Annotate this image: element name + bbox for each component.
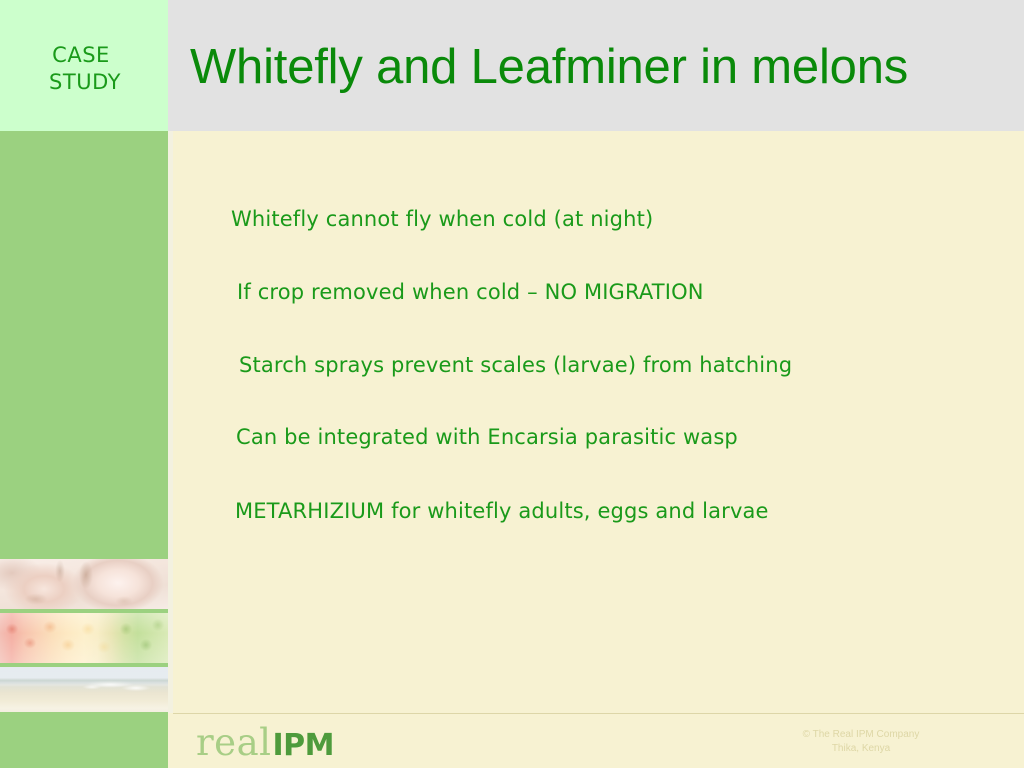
sidebar-photo-strip (0, 557, 168, 712)
bullet-item: If crop removed when cold – NO MIGRATION (237, 278, 704, 306)
bullet-item: Whitefly cannot fly when cold (at night) (231, 205, 653, 233)
farm-landscape-photo (0, 667, 168, 712)
case-study-badge-line2: STUDY (49, 69, 121, 96)
footer-divider-rule (173, 713, 1024, 714)
logo-word-ipm: IPM (272, 728, 334, 763)
copyright-line1: © The Real IPM Company (803, 729, 920, 740)
bullet-item: METARHIZIUM for whitefly adults, eggs an… (235, 497, 769, 525)
roses-photo (0, 559, 168, 609)
bullet-item: Can be integrated with Encarsia parasiti… (236, 423, 738, 451)
presentation-slide: CASE STUDY Whitefly and Leafminer in mel… (0, 0, 1024, 768)
footer-sidebar-green (0, 712, 168, 768)
bullet-item: Starch sprays prevent scales (larvae) fr… (239, 351, 792, 379)
produce-peppers-photo (0, 613, 168, 663)
logo-word-real: real (196, 721, 271, 764)
copyright-line2: Thika, Kenya (756, 742, 966, 756)
copyright-notice: © The Real IPM Company Thika, Kenya (756, 728, 966, 756)
slide-body: Whitefly cannot fly when cold (at night)… (173, 131, 1024, 713)
case-study-badge-line1: CASE (52, 42, 110, 69)
slide-title: Whitefly and Leafminer in melons (190, 38, 1010, 96)
real-ipm-logo: realIPM (196, 724, 334, 768)
case-study-badge: CASE STUDY (0, 0, 168, 131)
